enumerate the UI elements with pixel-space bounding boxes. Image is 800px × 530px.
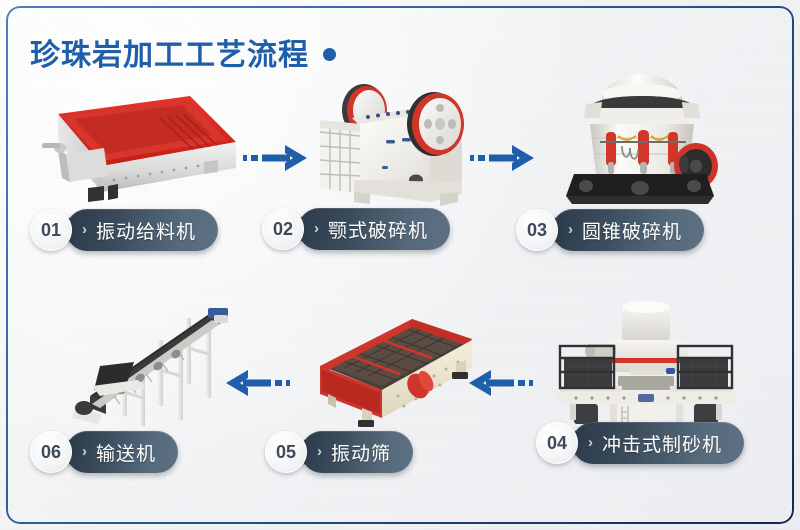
impact-sand-maker-image <box>546 296 746 436</box>
jaw-crusher-image <box>312 62 477 214</box>
chevron-right-icon: › <box>314 221 319 236</box>
step-03-label: 圆锥破碎机 <box>582 217 682 244</box>
step-02-label: 颚式破碎机 <box>328 216 428 243</box>
step-04-label-cluster[interactable]: 04 › 冲击式制砂机 <box>536 421 744 465</box>
belt-conveyor-image <box>62 304 252 430</box>
step-02-pill[interactable]: › 颚式破碎机 <box>298 208 450 250</box>
step-06-number: 06 <box>30 431 72 473</box>
step-04-pill[interactable]: › 冲击式制砂机 <box>572 422 744 464</box>
step-04-label: 冲击式制砂机 <box>602 430 722 457</box>
step-06-pill[interactable]: › 输送机 <box>66 431 178 473</box>
chevron-right-icon: › <box>82 222 87 237</box>
step-01-label-cluster[interactable]: 01 › 振动给料机 <box>30 208 218 252</box>
vibrating-screen-image <box>300 308 492 430</box>
step-05-pill[interactable]: › 振动筛 <box>301 431 413 473</box>
step-03-number: 03 <box>516 209 558 251</box>
arrow-right-1 <box>243 143 311 173</box>
title-bullet-dot-icon <box>323 48 336 61</box>
step-05-label: 振动筛 <box>331 439 391 466</box>
page-title: 珍珠岩加工工艺流程 <box>30 30 309 74</box>
step-03-label-cluster[interactable]: 03 › 圆锥破碎机 <box>516 208 704 252</box>
chevron-right-icon: › <box>588 435 593 450</box>
step-03-pill[interactable]: › 圆锥破碎机 <box>552 209 704 251</box>
chevron-right-icon: › <box>82 444 87 459</box>
cone-crusher-image <box>556 62 726 214</box>
step-06-label-cluster[interactable]: 06 › 输送机 <box>30 430 178 474</box>
step-01-number: 01 <box>30 209 72 251</box>
step-01-label: 振动给料机 <box>96 217 196 244</box>
step-05-number: 05 <box>265 431 307 473</box>
chevron-right-icon: › <box>568 222 573 237</box>
process-flow-card: 珍珠岩加工工艺流程 <box>0 0 800 530</box>
title-row: 珍珠岩加工工艺流程 <box>30 30 336 74</box>
step-02-number: 02 <box>262 208 304 250</box>
step-01-pill[interactable]: › 振动给料机 <box>66 209 218 251</box>
step-02-label-cluster[interactable]: 02 › 颚式破碎机 <box>262 207 450 251</box>
step-04-number: 04 <box>536 422 578 464</box>
chevron-right-icon: › <box>317 444 322 459</box>
vibrating-feeder-image <box>22 88 252 213</box>
step-05-label-cluster[interactable]: 05 › 振动筛 <box>265 430 413 474</box>
arrow-right-2 <box>470 143 538 173</box>
step-06-label: 输送机 <box>96 439 156 466</box>
